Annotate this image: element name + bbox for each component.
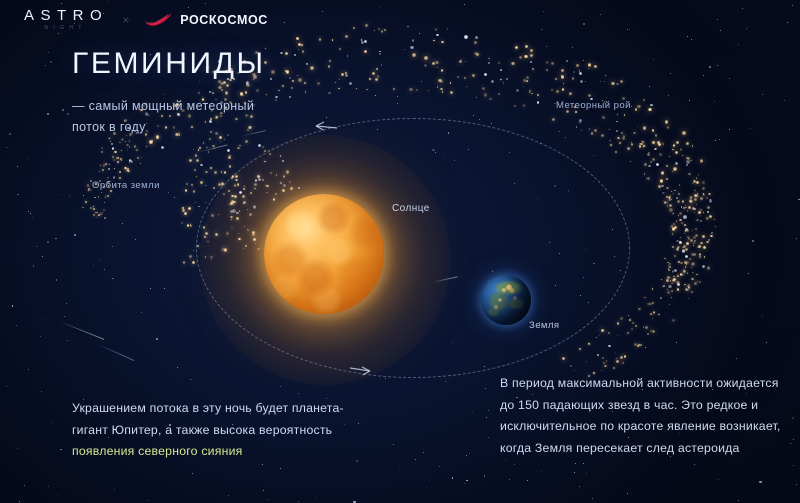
meteor-particle: [668, 196, 671, 199]
meteor-particle: [652, 288, 653, 289]
meteor-particle: [114, 151, 117, 154]
star: [766, 342, 767, 343]
meteor-particle: [658, 143, 661, 146]
meteor-particle: [184, 212, 187, 215]
meteor-particle: [684, 284, 686, 286]
star: [746, 28, 747, 29]
meteor-particle: [678, 261, 680, 263]
star: [600, 14, 602, 16]
star: [415, 459, 416, 460]
meteor-particle: [691, 253, 694, 256]
meteor-particle: [90, 207, 92, 209]
meteor-particle: [152, 140, 154, 142]
meteor-particle: [669, 263, 671, 265]
star: [583, 60, 584, 61]
meteor-particle: [450, 91, 453, 94]
meteor-particle: [665, 201, 668, 204]
meteor-particle: [666, 279, 669, 282]
meteor-streak: [98, 344, 135, 361]
star: [500, 69, 502, 71]
star: [393, 444, 394, 445]
meteor-particle: [677, 288, 679, 290]
meteor-particle: [107, 195, 109, 197]
meteor-particle: [685, 228, 688, 231]
star: [466, 455, 467, 456]
meteor-particle: [670, 195, 672, 197]
star: [762, 94, 763, 95]
meteor-particle: [472, 74, 475, 77]
meteor-particle: [670, 280, 671, 281]
meteor-particle: [702, 235, 705, 238]
meteor-particle: [297, 75, 299, 77]
meteor-particle: [190, 224, 192, 226]
star: [58, 495, 59, 496]
meteor-particle: [555, 78, 557, 80]
meteor-particle: [609, 129, 610, 130]
star: [646, 178, 647, 179]
meteor-particle: [224, 171, 227, 174]
page-title: ГЕМИНИДЫ: [72, 47, 266, 81]
star: [122, 223, 123, 224]
meteor-particle: [208, 151, 209, 152]
meteor-particle: [107, 177, 109, 179]
star: [205, 3, 206, 4]
meteor-particle: [662, 143, 665, 146]
meteor-particle: [526, 76, 529, 79]
meteor-particle: [617, 335, 618, 336]
meteor-particle: [102, 169, 104, 171]
star: [193, 149, 194, 150]
meteor-particle: [532, 68, 534, 70]
meteor-particle: [573, 71, 576, 74]
meteor-particle: [498, 93, 501, 96]
meteor-particle: [579, 348, 581, 350]
meteor-particle: [687, 272, 689, 274]
star: [485, 388, 486, 389]
meteor-particle: [693, 245, 694, 246]
meteor-particle: [229, 155, 231, 157]
meteor-particle: [634, 343, 637, 346]
meteor-particle: [677, 275, 679, 277]
label-meteor-swarm: Метеорный рой: [556, 100, 631, 111]
star: [565, 137, 566, 138]
meteor-particle: [678, 215, 679, 216]
meteor-particle: [676, 141, 679, 144]
meteor-particle: [220, 82, 223, 85]
meteor-particle: [686, 160, 690, 164]
meteor-particle: [668, 269, 671, 272]
meteor-particle: [291, 87, 293, 89]
meteor-particle: [683, 269, 686, 272]
star: [148, 500, 149, 501]
meteor-particle: [562, 88, 565, 91]
meteor-particle: [282, 85, 284, 87]
meteor-particle: [672, 171, 673, 172]
meteor-particle: [675, 151, 678, 154]
star: [604, 81, 605, 82]
meteor-particle: [94, 197, 96, 199]
meteor-particle: [125, 141, 126, 142]
star: [541, 29, 542, 30]
star: [488, 62, 490, 64]
meteor-particle: [588, 94, 591, 97]
meteor-particle: [353, 27, 355, 29]
meteor-particle: [710, 235, 713, 238]
meteor-particle: [644, 173, 645, 174]
star: [572, 47, 573, 48]
meteor-particle: [672, 149, 674, 151]
star: [793, 465, 794, 466]
star: [759, 481, 761, 483]
meteor-particle: [365, 24, 368, 27]
roscosmos-logo-text: РОСКОСМОС: [180, 13, 268, 27]
meteor-particle: [661, 185, 664, 188]
left-description-paragraph: Украшением потока в эту ночь будет плане…: [72, 398, 372, 463]
meteor-particle: [131, 161, 133, 163]
meteor-particle: [190, 225, 192, 227]
meteor-particle: [682, 249, 686, 253]
star: [715, 140, 716, 141]
meteor-particle: [698, 245, 701, 248]
meteor-particle: [628, 315, 629, 316]
meteor-particle: [623, 135, 625, 137]
meteor-particle: [296, 37, 299, 40]
meteor-particle: [638, 308, 641, 311]
meteor-particle: [677, 246, 679, 248]
meteor-particle: [461, 59, 462, 60]
meteor-particle: [610, 144, 612, 146]
meteor-particle: [419, 33, 421, 35]
meteor-particle: [681, 222, 683, 224]
star: [263, 490, 264, 491]
meteor-particle: [421, 81, 423, 83]
astro-logo-sub-text: NIGHT: [39, 26, 87, 31]
meteor-particle: [127, 170, 129, 172]
meteor-particle: [579, 70, 581, 72]
star: [45, 65, 46, 66]
meteor-particle: [694, 212, 695, 213]
meteor-particle: [198, 92, 200, 94]
meteor-particle: [96, 212, 98, 214]
star: [36, 246, 37, 247]
meteor-particle: [285, 52, 288, 55]
meteor-particle: [93, 214, 95, 216]
meteor-particle: [441, 69, 444, 72]
meteor-particle: [112, 156, 114, 158]
meteor-particle: [669, 156, 670, 157]
meteor-particle: [671, 191, 672, 192]
meteor-particle: [642, 141, 644, 143]
meteor-particle: [576, 64, 579, 67]
meteor-particle: [643, 127, 646, 130]
meteor-particle: [301, 44, 303, 46]
meteor-particle: [627, 332, 630, 335]
meteor-particle: [674, 226, 678, 230]
label-earth-orbit: Орбита земли: [92, 180, 160, 191]
meteor-particle: [667, 289, 668, 290]
star: [527, 81, 528, 82]
star: [298, 393, 299, 394]
meteor-particle: [692, 230, 693, 231]
meteor-particle: [256, 89, 259, 92]
star: [543, 11, 544, 12]
meteor-particle: [442, 91, 444, 93]
star: [514, 464, 515, 465]
meteor-particle: [239, 145, 240, 146]
meteor-particle: [669, 204, 672, 207]
star: [192, 473, 193, 474]
star: [42, 256, 43, 257]
meteor-particle: [221, 171, 223, 173]
meteor-particle: [671, 290, 673, 292]
meteor-particle: [229, 165, 232, 168]
meteor-particle: [643, 126, 646, 129]
meteor-particle: [100, 213, 102, 215]
star: [6, 386, 7, 387]
star: [486, 417, 487, 418]
meteor-particle: [561, 75, 562, 76]
meteor-particle: [672, 270, 675, 273]
meteor-particle: [650, 161, 652, 163]
meteor-particle: [643, 145, 645, 147]
meteor-particle: [638, 344, 640, 346]
meteor-particle: [412, 53, 416, 57]
star: [64, 316, 65, 317]
meteor-particle: [140, 163, 141, 164]
meteor-particle: [103, 164, 105, 166]
meteor-particle: [688, 284, 690, 286]
meteor-particle: [662, 192, 665, 195]
meteor-particle: [666, 187, 669, 190]
meteor-particle: [685, 205, 686, 206]
meteor-particle: [519, 56, 522, 59]
meteor-particle: [684, 261, 687, 264]
meteor-particle: [161, 146, 164, 149]
meteor-particle: [428, 90, 430, 92]
star: [479, 119, 480, 120]
meteor-particle: [669, 208, 673, 212]
meteor-particle: [692, 145, 694, 147]
meteor-particle: [704, 256, 706, 258]
meteor-particle: [432, 62, 435, 65]
meteor-particle: [552, 118, 555, 121]
meteor-particle: [620, 356, 623, 359]
meteor-particle: [649, 303, 651, 305]
meteor-particle: [685, 248, 688, 251]
meteor-particle: [102, 212, 104, 214]
star: [784, 100, 785, 101]
star: [668, 95, 669, 96]
meteor-particle: [476, 53, 478, 55]
meteor-particle: [341, 73, 344, 76]
meteor-particle: [679, 241, 681, 243]
meteor-particle: [579, 121, 581, 123]
meteor-particle: [556, 90, 559, 93]
meteor-particle: [407, 26, 409, 28]
roscosmos-logo[interactable]: РОСКОСМОС: [143, 12, 268, 28]
meteor-particle: [681, 206, 682, 207]
star: [583, 463, 584, 464]
meteor-particle: [127, 168, 130, 171]
meteor-particle: [121, 160, 122, 161]
star: [17, 448, 18, 449]
meteor-particle: [674, 190, 676, 192]
meteor-particle: [338, 88, 340, 90]
meteor-particle: [514, 105, 516, 107]
meteor-particle: [601, 329, 604, 332]
meteor-particle: [278, 90, 280, 92]
meteor-particle: [246, 83, 248, 85]
meteor-particle: [474, 41, 477, 44]
star: [604, 330, 605, 331]
star: [473, 115, 474, 116]
star: [694, 464, 695, 465]
meteor-particle: [146, 146, 147, 147]
meteor-particle: [683, 207, 685, 209]
meteor-particle: [537, 101, 540, 104]
sun-surface-texture: [264, 194, 384, 314]
meteor-particle: [103, 209, 105, 211]
meteor-particle: [129, 140, 130, 141]
star: [576, 126, 577, 127]
meteor-particle: [546, 69, 548, 71]
meteor-particle: [652, 129, 655, 132]
star: [627, 493, 628, 494]
meteor-particle: [680, 273, 683, 276]
meteor-particle: [114, 168, 115, 169]
star: [112, 278, 114, 280]
meteor-particle: [620, 317, 623, 320]
meteor-particle: [695, 234, 698, 237]
meteor-particle: [686, 164, 688, 166]
star: [484, 475, 485, 476]
meteor-particle: [673, 223, 675, 225]
meteor-particle: [640, 344, 642, 346]
meteor-particle: [187, 224, 190, 227]
star: [586, 473, 587, 474]
meteor-particle: [652, 318, 653, 319]
meteor-particle: [117, 161, 119, 163]
sun-sphere: [264, 194, 384, 314]
meteor-particle: [665, 120, 669, 124]
meteor-particle: [361, 39, 362, 40]
meteor-particle: [687, 157, 690, 160]
star: [322, 11, 323, 12]
star: [714, 101, 715, 102]
meteor-particle: [667, 291, 670, 294]
meteor-particle: [672, 246, 674, 248]
star: [527, 480, 528, 481]
meteor-particle: [695, 228, 698, 231]
meteor-particle: [205, 202, 206, 203]
star: [164, 288, 165, 289]
meteor-particle: [662, 286, 663, 287]
meteor-particle: [588, 63, 592, 67]
meteor-particle: [328, 65, 331, 68]
meteor-particle: [101, 151, 103, 153]
meteor-particle: [690, 200, 693, 203]
meteor-particle: [689, 199, 692, 202]
meteor-particle: [108, 168, 110, 170]
star: [583, 23, 585, 25]
star: [61, 194, 62, 195]
meteor-particle: [692, 207, 695, 210]
meteor-particle: [101, 192, 102, 193]
meteor-particle: [182, 209, 185, 212]
meteor-particle: [596, 337, 597, 338]
star: [19, 501, 20, 502]
meteor-particle: [639, 143, 641, 145]
meteor-particle: [120, 158, 122, 160]
meteor-particle: [698, 211, 701, 214]
meteor-particle: [687, 210, 689, 212]
star: [385, 378, 386, 379]
star: [787, 22, 788, 23]
star: [579, 486, 580, 487]
meteor-particle: [684, 225, 686, 227]
meteor-particle: [226, 84, 229, 87]
meteor-particle: [440, 88, 443, 91]
meteor-particle: [675, 162, 678, 165]
meteor-particle: [530, 49, 533, 52]
meteor-particle: [188, 207, 191, 210]
meteor-particle: [663, 200, 664, 201]
meteor-particle: [669, 197, 671, 199]
meteor-particle: [708, 193, 711, 196]
meteor-particle: [640, 143, 643, 146]
meteor-particle: [245, 91, 247, 93]
meteor-particle: [292, 80, 294, 82]
meteor-particle: [205, 171, 208, 174]
meteor-particle: [436, 34, 438, 36]
star: [592, 498, 593, 499]
meteor-particle: [302, 50, 305, 53]
meteor-particle: [615, 353, 617, 355]
meteor-particle: [609, 140, 611, 142]
meteor-particle: [594, 129, 597, 132]
meteor-particle: [275, 96, 277, 98]
meteor-particle: [286, 70, 290, 74]
star: [174, 197, 175, 198]
meteor-particle: [438, 79, 442, 83]
meteor-particle: [589, 128, 591, 130]
star: [762, 316, 763, 317]
meteor-particle: [673, 276, 675, 278]
star: [736, 358, 737, 359]
meteor-particle: [134, 145, 137, 148]
meteor-particle: [688, 173, 690, 175]
star: [99, 260, 100, 261]
meteor-particle: [648, 165, 651, 168]
star: [566, 60, 568, 62]
star: [58, 33, 59, 34]
meteor-particle: [379, 53, 381, 55]
star: [796, 238, 797, 239]
astro-logo-icon[interactable]: ASTRO NIGHT: [18, 8, 108, 31]
meteor-particle: [88, 190, 89, 191]
meteor-particle: [90, 189, 92, 191]
meteor-particle: [104, 202, 105, 203]
meteor-particle: [687, 289, 689, 291]
meteor-particle: [687, 285, 689, 287]
meteor-particle: [617, 114, 619, 116]
meteor-particle: [648, 108, 651, 111]
star: [465, 61, 466, 62]
meteor-particle: [660, 180, 662, 182]
meteor-particle: [99, 171, 100, 172]
meteor-particle: [105, 163, 107, 165]
meteor-particle: [345, 35, 348, 38]
